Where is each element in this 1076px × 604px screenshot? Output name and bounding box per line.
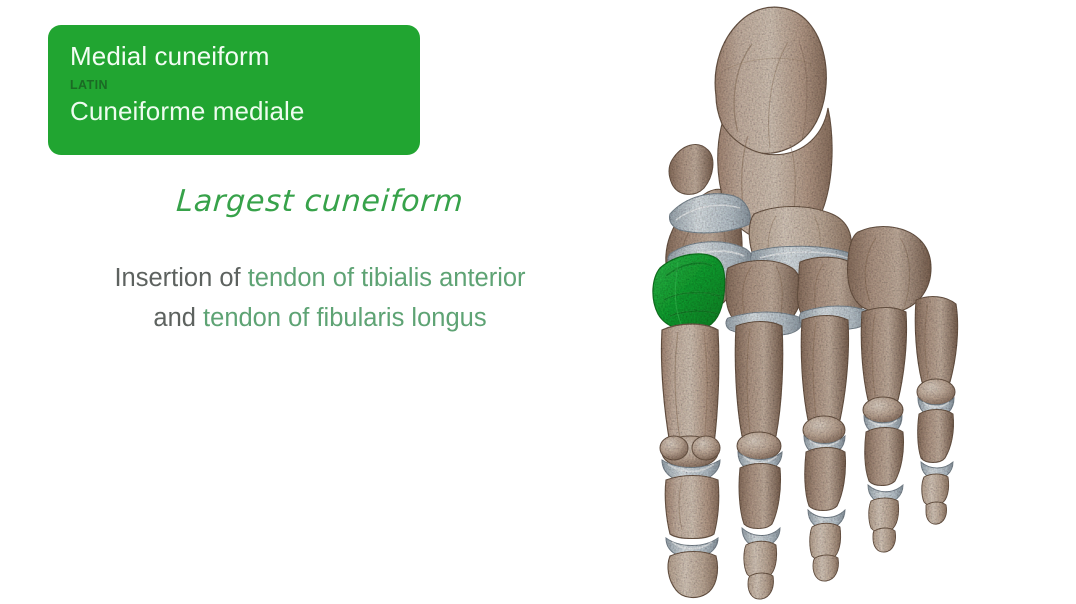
bone-metatarsal-4 xyxy=(861,308,906,406)
description-segment-2: and xyxy=(153,304,203,332)
description-line-2: and tendon of fibularis longus xyxy=(153,304,486,332)
latin-label: LATIN xyxy=(70,76,398,94)
bone-phalanx-proximal-2 xyxy=(739,464,780,529)
bone-phalanx-distal-2 xyxy=(748,573,773,599)
description-line-1: Insertion of tendon of tibialis anterior xyxy=(114,264,525,292)
term-title: Medial cuneiform xyxy=(70,39,398,73)
headline-fact: Largest cuneiform xyxy=(0,184,641,219)
bone-phalanx-distal-1 xyxy=(668,552,718,598)
bone-phalanx-proximal-1 xyxy=(665,476,719,539)
bone-phalanx-distal-3 xyxy=(813,555,838,581)
bone-phalanx-distal-4 xyxy=(873,528,896,552)
description-text: Insertion of tendon of tibialis anterior… xyxy=(0,258,640,338)
cartilage-talonavicular xyxy=(669,194,750,233)
info-panel: Medial cuneiform LATIN Cuneiforme medial… xyxy=(0,0,640,604)
bone-phalanx-middle-4 xyxy=(869,498,899,532)
latin-term: Cuneiforme mediale xyxy=(70,95,398,128)
bone-talus xyxy=(715,7,826,153)
bone-phalanx-distal-5 xyxy=(926,502,947,524)
bone-metatarsal-1 xyxy=(661,324,718,450)
bone-metatarsal-3 xyxy=(801,316,848,426)
term-link-tibialis-anterior: tendon of tibialis anterior xyxy=(248,264,526,292)
bone-metatarsal-5 xyxy=(915,297,957,388)
term-link-fibularis-longus: tendon of fibularis longus xyxy=(203,304,487,332)
bone-phalanx-middle-5 xyxy=(922,474,949,506)
bone-metatarsal-2 xyxy=(735,322,783,442)
term-card: Medial cuneiform LATIN Cuneiforme medial… xyxy=(48,25,420,155)
anatomy-slide: Medial cuneiform LATIN Cuneiforme medial… xyxy=(0,0,1076,604)
foot-skeleton-illustration xyxy=(612,0,1076,604)
bone-phalanx-proximal-3 xyxy=(805,448,846,511)
bone-phalanx-proximal-4 xyxy=(865,428,904,486)
description-segment-1: Insertion of xyxy=(114,264,247,292)
bone-calcaneus-process xyxy=(669,145,713,195)
bone-phalanx-proximal-5 xyxy=(918,410,954,463)
